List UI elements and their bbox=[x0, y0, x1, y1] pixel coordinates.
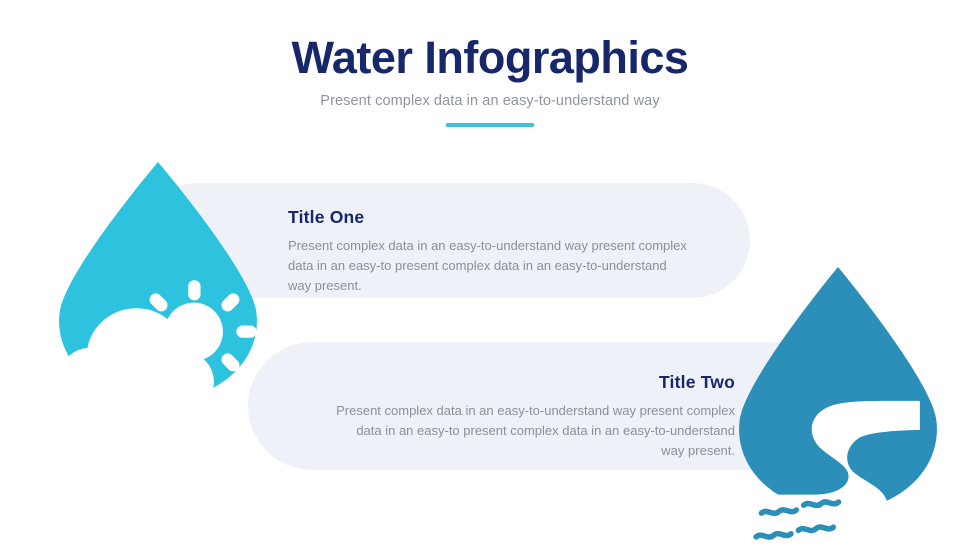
winding-river-icon bbox=[735, 393, 941, 551]
section-two: Title Two Present complex data in an eas… bbox=[0, 265, 980, 515]
section-one-title: Title One bbox=[288, 207, 688, 228]
section-two-icon-wrap bbox=[735, 393, 941, 551]
section-two-text-block: Title Two Present complex data in an eas… bbox=[335, 372, 735, 460]
header: Water Infographics Present complex data … bbox=[0, 34, 980, 127]
page-subtitle: Present complex data in an easy-to-under… bbox=[0, 93, 980, 109]
section-two-droplet[interactable] bbox=[735, 265, 941, 513]
page-title: Water Infographics bbox=[0, 34, 980, 81]
accent-divider bbox=[446, 123, 534, 127]
section-two-title: Title Two bbox=[335, 372, 735, 393]
section-two-body: Present complex data in an easy-to-under… bbox=[335, 401, 735, 460]
infographic-slide: Water Infographics Present complex data … bbox=[0, 0, 980, 551]
